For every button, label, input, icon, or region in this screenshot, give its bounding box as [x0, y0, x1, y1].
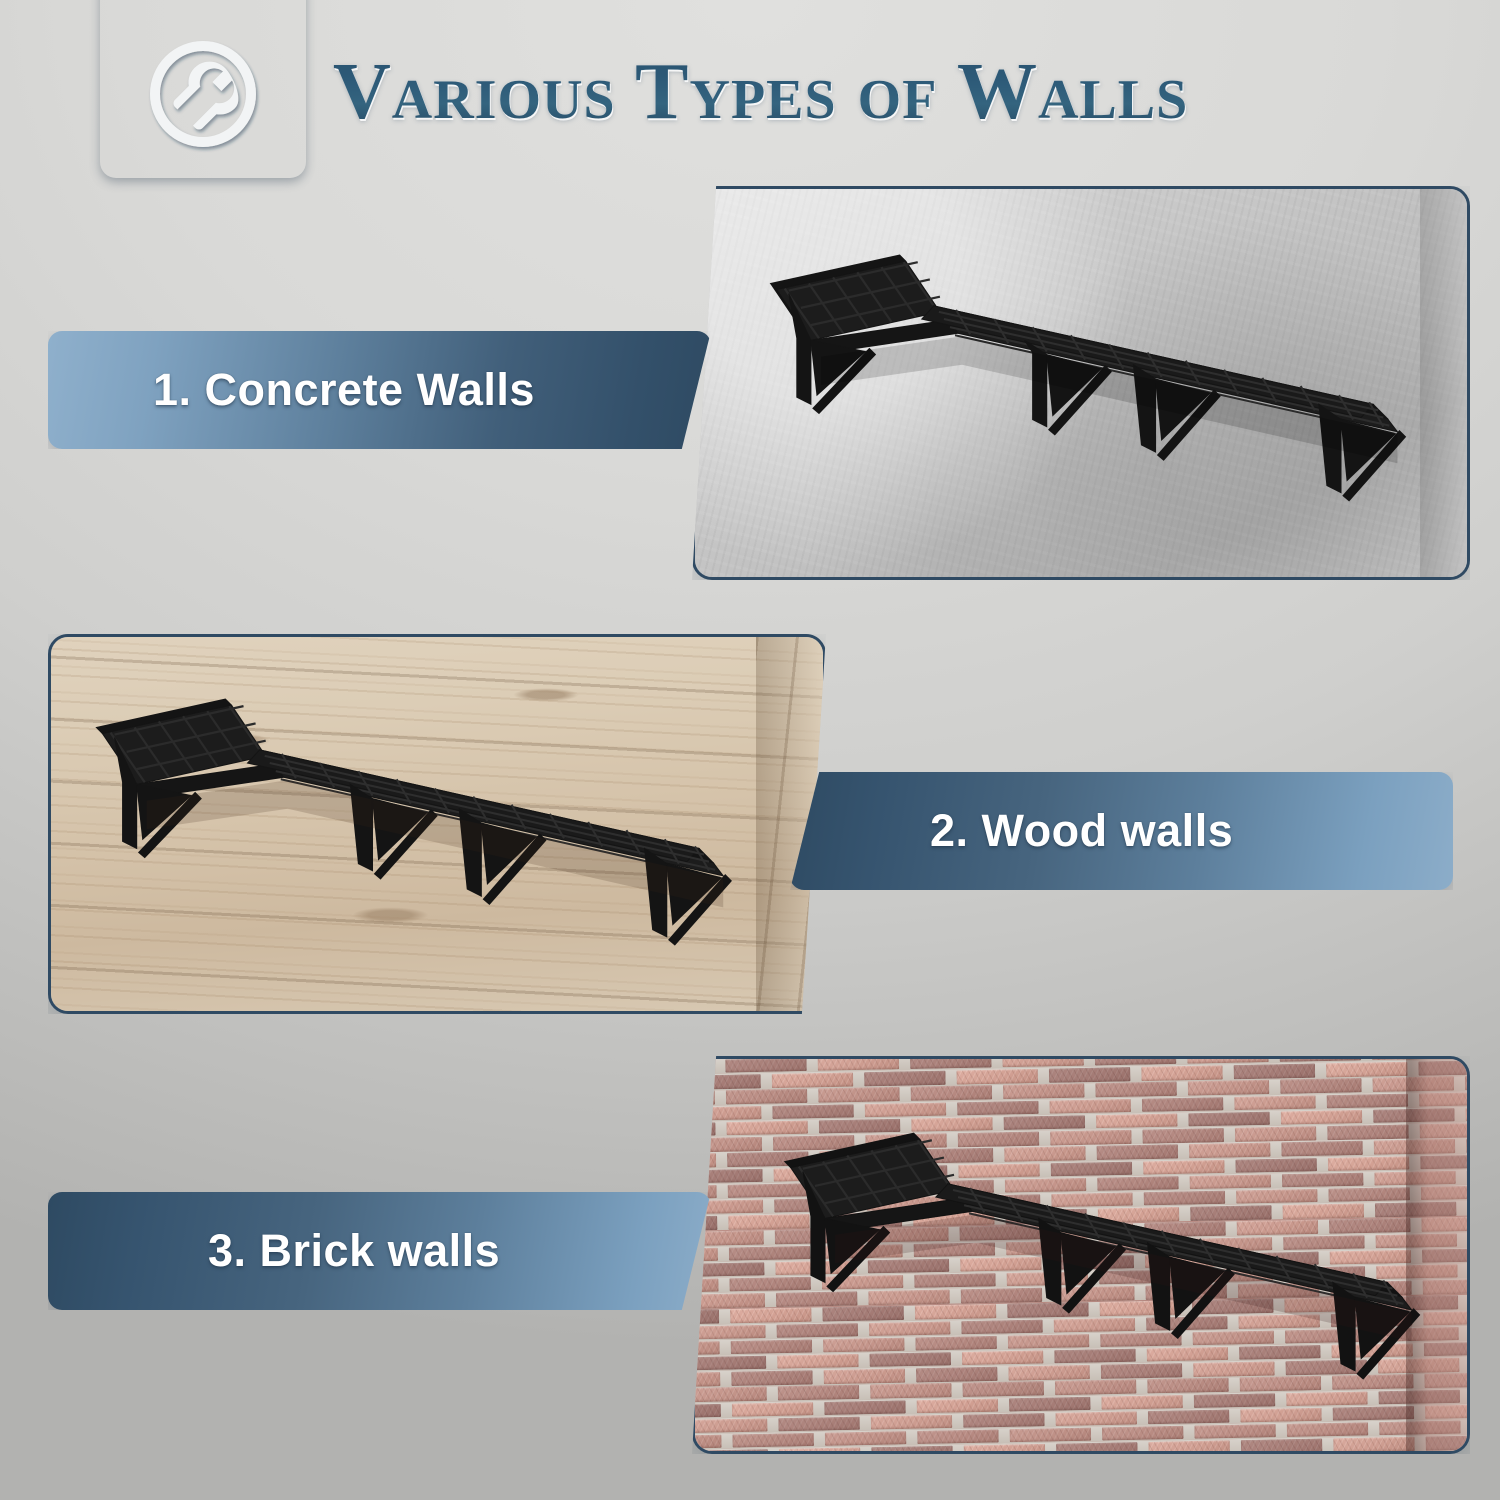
- page-title: Various Types of Walls: [333, 42, 1443, 142]
- infographic-canvas: Various Types of Walls: [0, 0, 1500, 1500]
- wire-shelf-graphic: [692, 1056, 1470, 1454]
- wire-shelf-graphic: [692, 186, 1470, 580]
- wood-wall-texture: [48, 634, 826, 1014]
- photo-brick-wall: [692, 1056, 1470, 1454]
- banner-label: 3. Brick walls: [208, 1225, 500, 1277]
- banner-wood-walls[interactable]: 2. Wood walls: [790, 772, 1453, 890]
- logo-badge: [100, 0, 306, 178]
- photo-wood-wall: [48, 634, 826, 1014]
- banner-brick-walls[interactable]: 3. Brick walls: [48, 1192, 711, 1310]
- banner-label: 1. Concrete Walls: [153, 364, 535, 416]
- banner-label: 2. Wood walls: [930, 805, 1233, 857]
- banner-concrete-walls[interactable]: 1. Concrete Walls: [48, 331, 711, 449]
- wire-shelf-graphic: [48, 634, 826, 1014]
- photo-concrete-wall: [692, 186, 1470, 580]
- brick-wall-texture: [692, 1056, 1470, 1454]
- wrench-in-circle-icon: [139, 30, 267, 158]
- concrete-wall-texture: [692, 186, 1470, 580]
